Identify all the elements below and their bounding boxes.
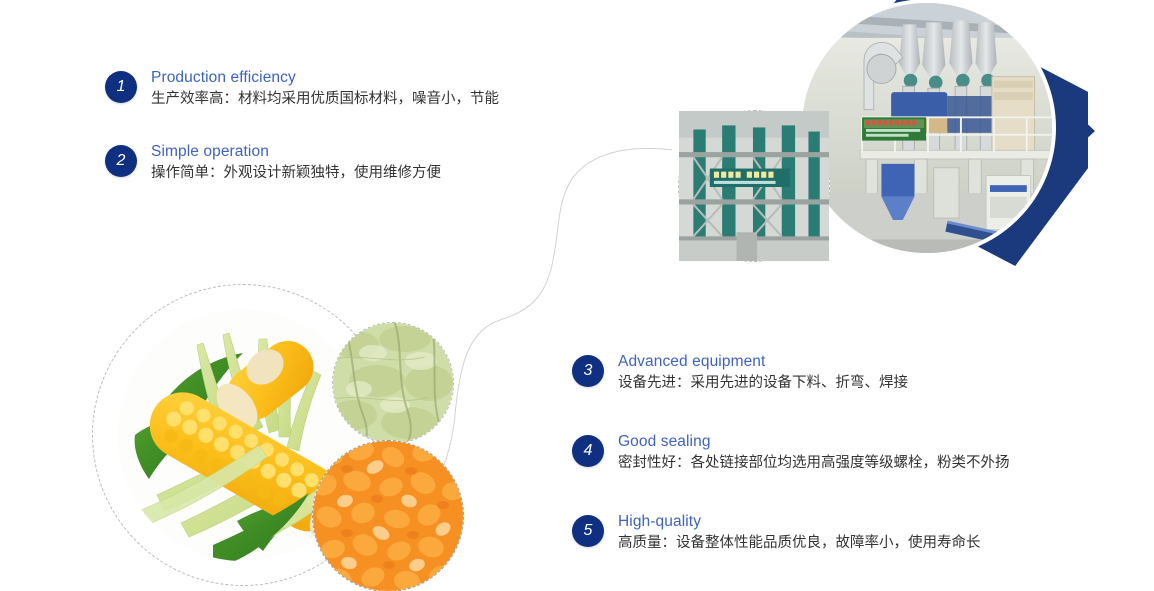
feature-item-1[interactable]: 1 Production efficiency 生产效率高：材料均采用优质国标材… — [105, 68, 575, 110]
feature-desc-3: 设备先进：采用先进的设备下料、折弯、焊接 — [618, 372, 908, 394]
feature-item-4[interactable]: 4 Good sealing 密封性好：各处链接部位均选用高强度等级螺栓，粉类不… — [572, 432, 1092, 474]
feature-title-1: Production efficiency — [151, 68, 499, 87]
feature-desc-2: 操作简单：外观设计新颖独特，使用维修方便 — [151, 162, 441, 184]
feature-desc-4: 密封性好：各处链接部位均选用高强度等级螺栓，粉类不外扬 — [618, 452, 1010, 474]
hexagon-photo-sub — [678, 110, 830, 262]
corn-photo-group — [92, 282, 492, 591]
feature-item-5[interactable]: 5 High-quality 高质量：设备整体性能品质优良，故障率小，使用寿命长 — [572, 512, 1092, 554]
feature-badge-1: 1 — [105, 71, 137, 103]
feature-text-1: Production efficiency 生产效率高：材料均采用优质国标材料，… — [151, 68, 499, 110]
hexagon-photo-group — [660, 0, 1154, 284]
feature-badge-3: 3 — [572, 355, 604, 387]
feature-desc-1: 生产效率高：材料均采用优质国标材料，噪音小，节能 — [151, 88, 499, 110]
feature-badge-4: 4 — [572, 435, 604, 467]
feature-text-4: Good sealing 密封性好：各处链接部位均选用高强度等级螺栓，粉类不外扬 — [618, 432, 1010, 474]
feature-list-right: 3 Advanced equipment 设备先进：采用先进的设备下料、折弯、焊… — [572, 352, 1092, 591]
feature-item-3[interactable]: 3 Advanced equipment 设备先进：采用先进的设备下料、折弯、焊… — [572, 352, 1092, 394]
feature-text-3: Advanced equipment 设备先进：采用先进的设备下料、折弯、焊接 — [618, 352, 908, 394]
feature-desc-5: 高质量：设备整体性能品质优良，故障率小，使用寿命长 — [618, 532, 981, 554]
feature-item-2[interactable]: 2 Simple operation 操作简单：外观设计新颖独特，使用维修方便 — [105, 142, 575, 184]
feature-title-5: High-quality — [618, 512, 981, 531]
feature-text-5: High-quality 高质量：设备整体性能品质优良，故障率小，使用寿命长 — [618, 512, 981, 554]
feature-badge-2: 2 — [105, 145, 137, 177]
feature-title-3: Advanced equipment — [618, 352, 908, 371]
corn-kernels-photo — [312, 440, 464, 591]
infographic-stage: 1 Production efficiency 生产效率高：材料均采用优质国标材… — [0, 0, 1154, 591]
feature-text-2: Simple operation 操作简单：外观设计新颖独特，使用维修方便 — [151, 142, 441, 184]
feature-badge-5: 5 — [572, 515, 604, 547]
hexagon-photo-main — [798, 0, 1056, 257]
feature-title-4: Good sealing — [618, 432, 1010, 451]
corn-paste-photo — [332, 322, 454, 444]
feature-list-left: 1 Production efficiency 生产效率高：材料均采用优质国标材… — [105, 68, 575, 216]
feature-title-2: Simple operation — [151, 142, 441, 161]
